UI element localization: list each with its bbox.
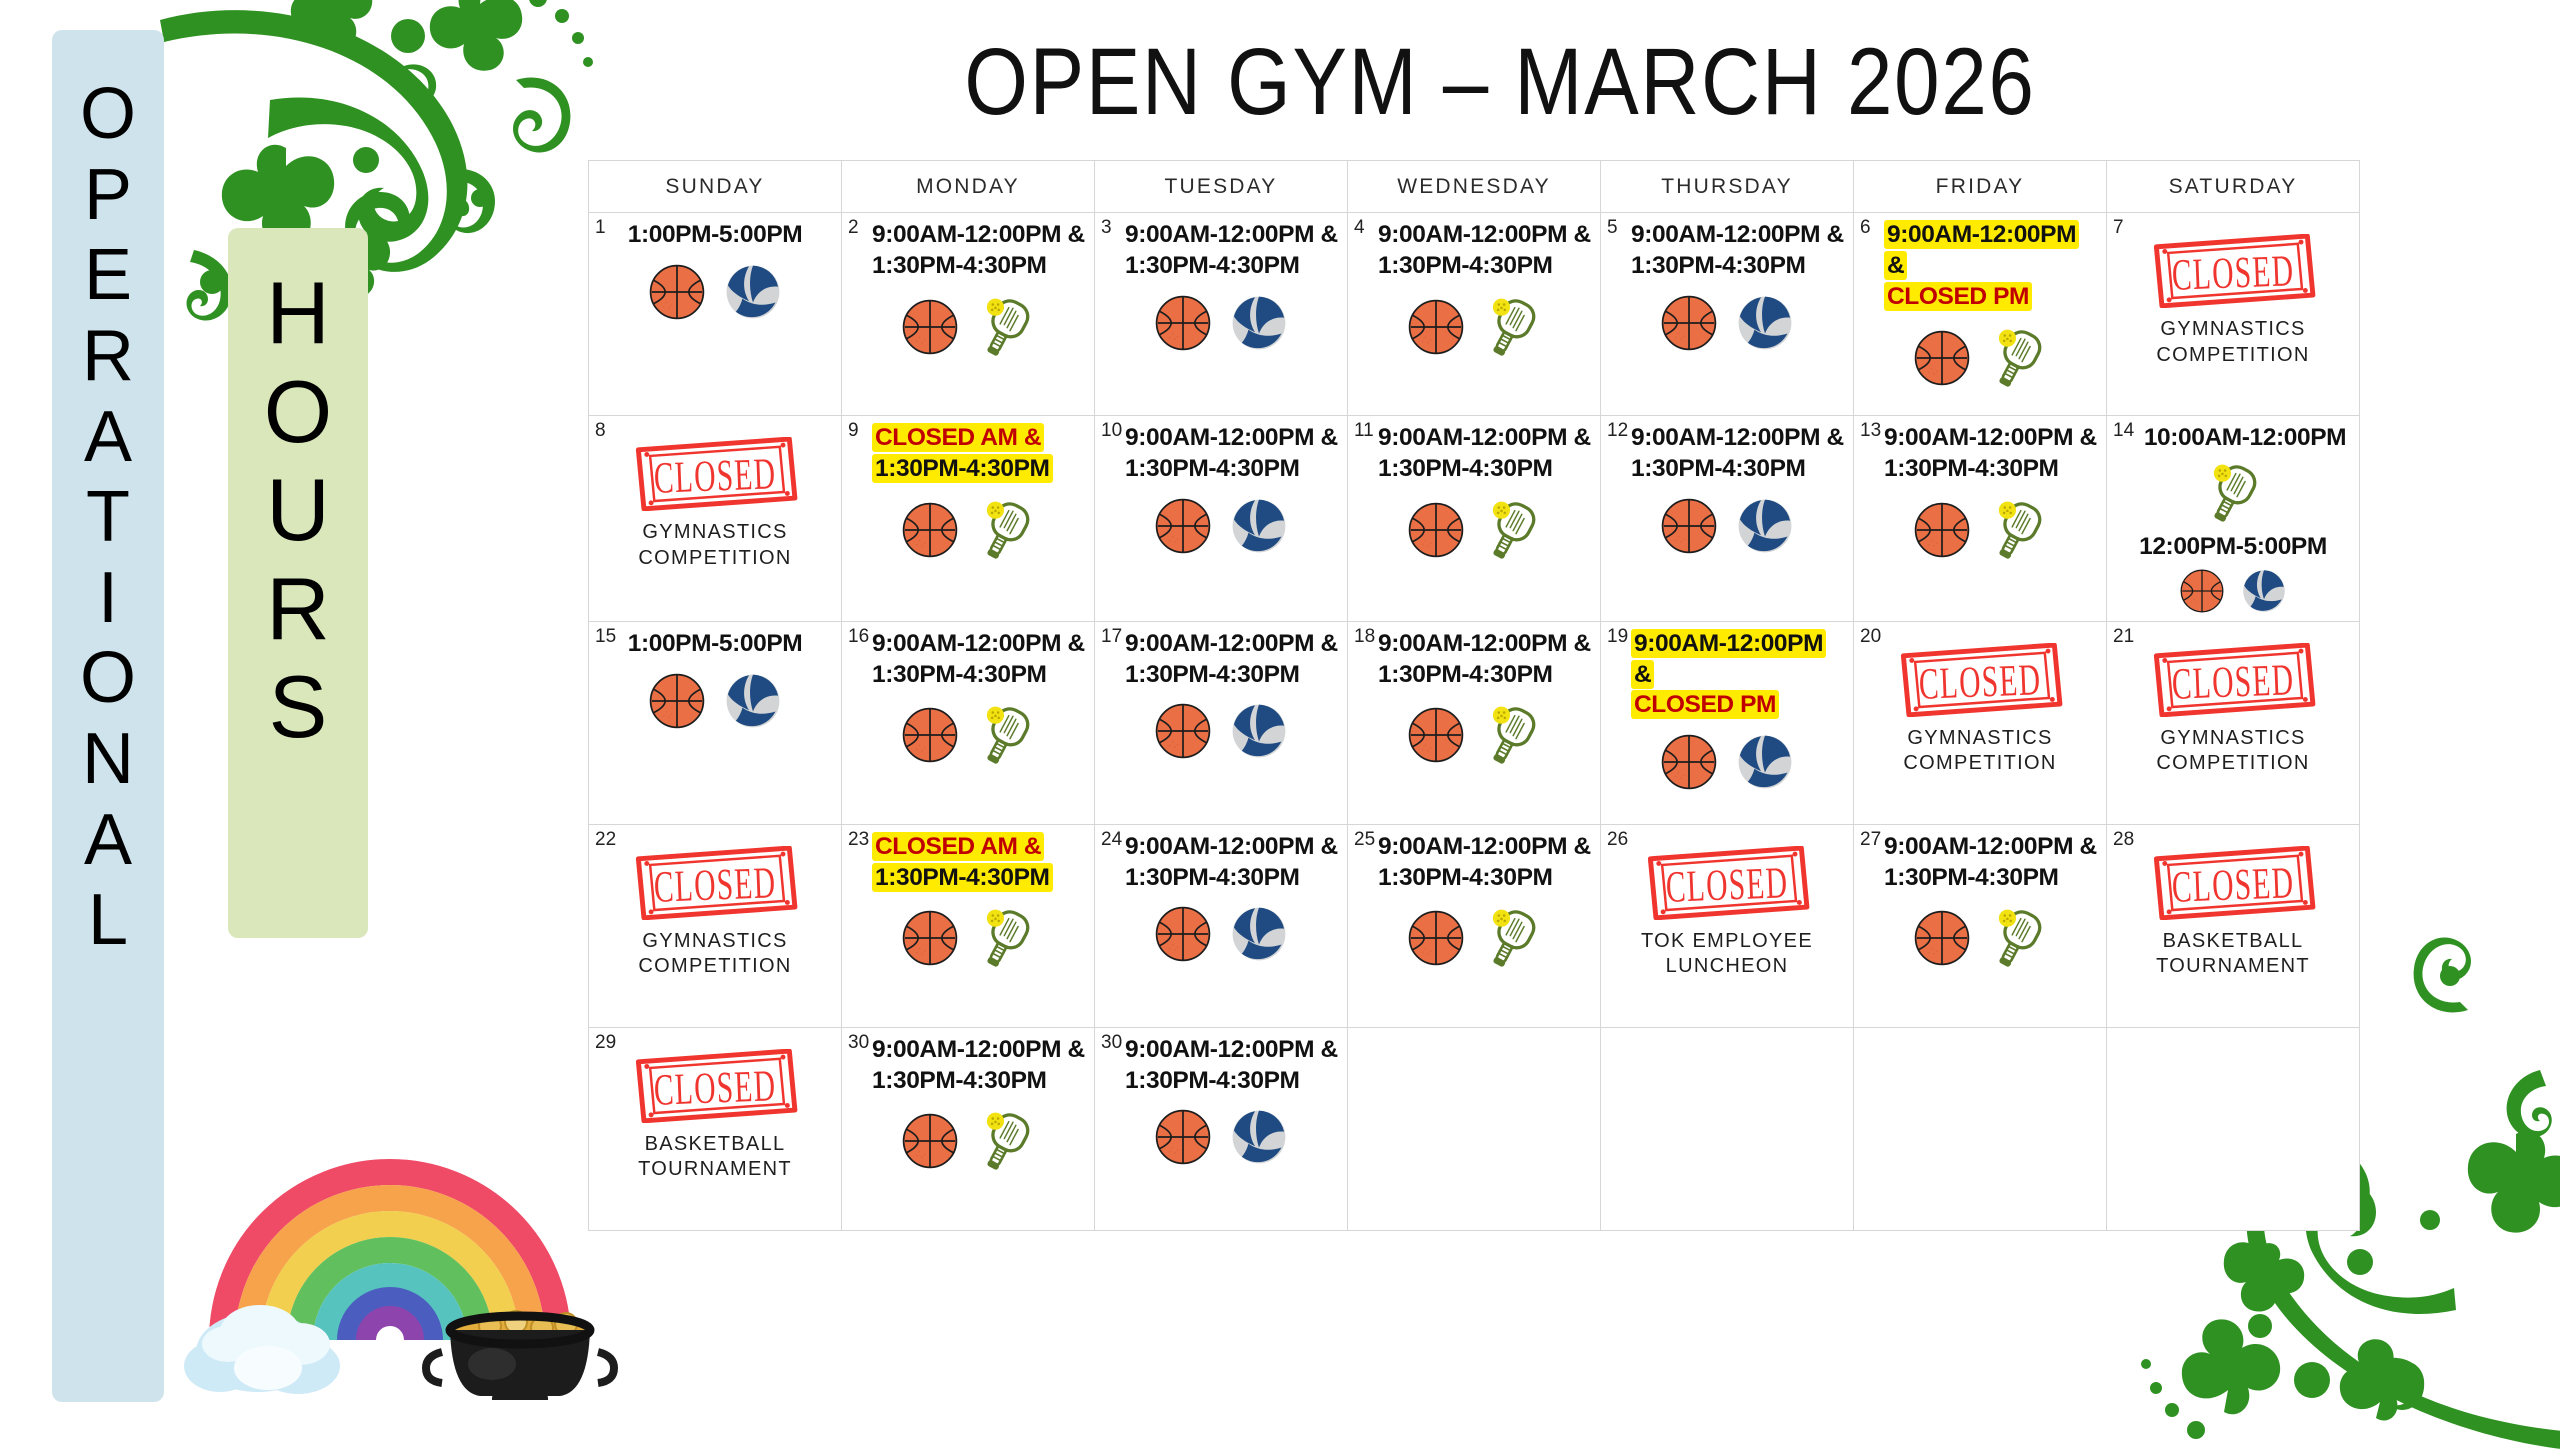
calendar-cell-day-12[interactable]: 129:00AM-12:00PM &1:30PM-4:30PM <box>1601 416 1854 622</box>
time-text: 1:30PM-4:30PM <box>1378 864 1553 891</box>
activity-icons <box>1605 290 1849 356</box>
time-text: 1:30PM-4:30PM <box>872 661 1047 688</box>
calendar-cell-day-16[interactable]: 169:00AM-12:00PM &1:30PM-4:30PM <box>842 621 1095 824</box>
day-number: 3 <box>1101 218 1112 237</box>
time-text: 9:00AM-12:00PM & <box>1631 221 1844 248</box>
time-range-block: 9:00AM-12:00PM &1:30PM-4:30PM <box>1631 423 1849 485</box>
time-text: 9:00AM-12:00PM & <box>872 630 1085 657</box>
day-number: 30 <box>1101 1033 1122 1052</box>
basketball-icon <box>1403 702 1469 768</box>
time-text: 9:00AM-12:00PM & <box>1378 424 1591 451</box>
highlighted-time-text: 1:30PM-4:30PM <box>872 454 1053 483</box>
day-number: 6 <box>1860 218 1871 237</box>
time-text: 1:30PM-4:30PM <box>1631 252 1806 279</box>
closed-stamp-icon: CLOSED <box>2148 643 2318 717</box>
basketball-icon <box>1403 497 1469 563</box>
time-text: 1:30PM-4:30PM <box>1125 661 1300 688</box>
activity-icons <box>2111 565 2355 617</box>
calendar-cell-day-7[interactable]: 7CLOSEDGYMNASTICSCOMPETITION <box>2107 213 2360 416</box>
basketball-icon <box>1909 497 1975 563</box>
time-range-block: 9:00AM-12:00PM &1:30PM-4:30PM <box>1378 220 1596 282</box>
cell-inner: 21CLOSEDGYMNASTICSCOMPETITION <box>2107 622 2359 824</box>
time-range-block: 9:00AM-12:00PM &1:30PM-4:30PM <box>872 629 1090 691</box>
time-range-line: 1:30PM-4:30PM <box>1125 863 1343 894</box>
operational-letter: N <box>82 719 134 800</box>
hours-letter: O <box>264 363 332 462</box>
activity-icons <box>846 1104 1090 1178</box>
calendar-cell-day-27[interactable]: 279:00AM-12:00PM &1:30PM-4:30PM <box>1854 824 2107 1027</box>
closed-reason-label: BASKETBALLTOURNAMENT <box>2156 929 2310 980</box>
day-header-wednesday: WEDNESDAY <box>1348 161 1601 213</box>
time-text: 1:30PM-4:30PM <box>1125 864 1300 891</box>
svg-text:CLOSED: CLOSED <box>653 858 777 912</box>
calendar-cell-day-30[interactable]: 309:00AM-12:00PM &1:30PM-4:30PM <box>1095 1027 1348 1230</box>
highlighted-time-text: 9:00AM-12:00PM & <box>1884 220 2079 280</box>
day-header-friday: FRIDAY <box>1854 161 2107 213</box>
highlighted-closed-text: CLOSED PM <box>1631 690 1779 719</box>
closed-reason-label: GYMNASTICSCOMPETITION <box>2156 726 2309 777</box>
cell-inner: 109:00AM-12:00PM &1:30PM-4:30PM <box>1095 416 1347 621</box>
cell-inner: 119:00AM-12:00PM &1:30PM-4:30PM <box>1348 416 1600 621</box>
closed-reason-line: COMPETITION <box>638 546 791 572</box>
calendar-cell-day-2[interactable]: 29:00AM-12:00PM &1:30PM-4:30PM <box>842 213 1095 416</box>
highlighted-closed-text: CLOSED PM <box>1884 282 2032 311</box>
closed-reason-label: TOK EMPLOYEELUNCHEON <box>1641 929 1813 980</box>
time-range-block: 9:00AM-12:00PM &1:30PM-4:30PM <box>1125 220 1343 282</box>
time-range-line: 9:00AM-12:00PM & <box>1378 629 1596 660</box>
pickleball-paddle-icon <box>973 1104 1039 1178</box>
time-range-line: 1:30PM-4:30PM <box>1125 660 1343 691</box>
cell-inner: 279:00AM-12:00PM &1:30PM-4:30PM <box>1854 825 2106 1027</box>
calendar-cell-day-19[interactable]: 199:00AM-12:00PM &CLOSED PM <box>1601 621 1854 824</box>
day-number: 23 <box>848 830 869 849</box>
day-number: 14 <box>2113 421 2134 440</box>
pickleball-paddle-icon <box>1985 493 2051 567</box>
calendar-cell-day-5[interactable]: 59:00AM-12:00PM &1:30PM-4:30PM <box>1601 213 1854 416</box>
time-text: 1:30PM-4:30PM <box>1125 455 1300 482</box>
time-range-text: 10:00AM-12:00PM <box>2135 423 2355 454</box>
basketball-icon <box>1909 325 1975 391</box>
basketball-icon <box>1150 901 1216 967</box>
calendar-cell-day-20[interactable]: 20CLOSEDGYMNASTICSCOMPETITION <box>1854 621 2107 824</box>
calendar-cell-day-26[interactable]: 26CLOSEDTOK EMPLOYEELUNCHEON <box>1601 824 1854 1027</box>
time-text: 9:00AM-12:00PM & <box>1125 833 1338 860</box>
time-text: 1:00PM-5:00PM <box>628 630 803 657</box>
activity-icons <box>1099 290 1343 356</box>
closed-stamp-group: CLOSEDGYMNASTICSCOMPETITION <box>1858 643 2102 777</box>
closed-stamp-icon: CLOSED <box>1895 643 2065 717</box>
calendar-cell-day-30[interactable]: 309:00AM-12:00PM &1:30PM-4:30PM <box>842 1027 1095 1230</box>
time-text: 1:30PM-4:30PM <box>872 1067 1047 1094</box>
closed-stamp-icon: CLOSED <box>630 1049 800 1123</box>
calendar-cell-day-15[interactable]: 151:00PM-5:00PM <box>589 621 842 824</box>
basketball-icon <box>897 1108 963 1174</box>
day-number: 17 <box>1101 627 1122 646</box>
activity-icons <box>1352 290 1596 364</box>
closed-reason-line: TOURNAMENT <box>638 1157 792 1183</box>
time-range-block: 1:00PM-5:00PM <box>593 629 837 660</box>
closed-reason-label: GYMNASTICSCOMPETITION <box>2156 317 2309 368</box>
basketball-icon <box>897 497 963 563</box>
highlighted-time-text: 9:00AM-12:00PM & <box>1631 629 1826 689</box>
pickleball-paddle-icon <box>973 290 1039 364</box>
time-range-line: 9:00AM-12:00PM & <box>1125 423 1343 454</box>
time-range-line: 1:30PM-4:30PM <box>1631 251 1849 282</box>
calendar-cell-day-4[interactable]: 49:00AM-12:00PM &1:30PM-4:30PM <box>1348 213 1601 416</box>
time-range-line: 9:00AM-12:00PM & <box>1884 832 2102 863</box>
calendar-header-row: SUNDAYMONDAYTUESDAYWEDNESDAYTHURSDAYFRID… <box>589 161 2360 213</box>
activity-icons <box>1352 698 1596 772</box>
closed-stamp-icon: CLOSED <box>2148 234 2318 308</box>
cell-inner <box>1601 1028 1853 1230</box>
closed-reason-line: GYMNASTICS <box>1903 726 2056 752</box>
basketball-icon <box>1150 493 1216 559</box>
closed-reason-label: GYMNASTICSCOMPETITION <box>638 520 791 571</box>
calendar-week-row: 8CLOSEDGYMNASTICSCOMPETITION9CLOSED AM &… <box>589 416 2360 622</box>
closed-stamp-group: CLOSEDTOK EMPLOYEELUNCHEON <box>1605 846 1849 980</box>
closed-reason-line: GYMNASTICS <box>2156 726 2309 752</box>
calendar-cell-day-14[interactable]: 1410:00AM-12:00PM12:00PM-5:00PM <box>2107 416 2360 622</box>
time-range-line: 1:30PM-4:30PM <box>1378 251 1596 282</box>
calendar-cell-day-10[interactable]: 109:00AM-12:00PM &1:30PM-4:30PM <box>1095 416 1348 622</box>
time-range-block: 9:00AM-12:00PM &1:30PM-4:30PM <box>1884 832 2102 894</box>
cell-inner: 59:00AM-12:00PM &1:30PM-4:30PM <box>1601 213 1853 415</box>
volleyball-icon <box>1732 729 1798 795</box>
cell-inner: 23CLOSED AM &1:30PM-4:30PM <box>842 825 1094 1027</box>
closed-reason-line: TOURNAMENT <box>2156 954 2310 980</box>
time-range-block: 9:00AM-12:00PM &1:30PM-4:30PM <box>1125 629 1343 691</box>
calendar-cell-day-21[interactable]: 21CLOSEDGYMNASTICSCOMPETITION <box>2107 621 2360 824</box>
day-header-sunday: SUNDAY <box>589 161 842 213</box>
day-number: 30 <box>848 1033 869 1052</box>
cell-inner <box>1348 1028 1600 1230</box>
calendar-cell-day-18[interactable]: 189:00AM-12:00PM &1:30PM-4:30PM <box>1348 621 1601 824</box>
day-number: 12 <box>1607 421 1628 440</box>
pickleball-paddle-icon <box>1479 901 1545 975</box>
cell-inner: 151:00PM-5:00PM <box>589 622 841 824</box>
cell-inner: 9CLOSED AM &1:30PM-4:30PM <box>842 416 1094 621</box>
time-range-block: 1:00PM-5:00PM <box>593 220 837 251</box>
closed-reason-label: GYMNASTICSCOMPETITION <box>1903 726 2056 777</box>
operational-letter: O <box>80 638 136 719</box>
calendar-cell-day-3[interactable]: 39:00AM-12:00PM &1:30PM-4:30PM <box>1095 213 1348 416</box>
time-range-block: 9:00AM-12:00PM &1:30PM-4:30PM <box>1378 832 1596 894</box>
day-number: 24 <box>1101 830 1122 849</box>
activity-icons <box>846 493 1090 567</box>
volleyball-icon <box>1226 493 1292 559</box>
time-range-block: 9:00AM-12:00PM &1:30PM-4:30PM <box>1631 220 1849 282</box>
cell-inner: 179:00AM-12:00PM &1:30PM-4:30PM <box>1095 622 1347 824</box>
time-range-line: CLOSED PM <box>1631 690 1849 721</box>
calendar-cell-day-13[interactable]: 139:00AM-12:00PM &1:30PM-4:30PM <box>1854 416 2107 622</box>
activity-icons <box>593 668 837 734</box>
activity-icons <box>1099 493 1343 559</box>
hours-letter: U <box>266 461 330 560</box>
activity-icons <box>1605 493 1849 559</box>
calendar-cell-day-25[interactable]: 259:00AM-12:00PM &1:30PM-4:30PM <box>1348 824 1601 1027</box>
activity-icons <box>1605 729 1849 795</box>
time-text: 1:30PM-4:30PM <box>1125 252 1300 279</box>
time-range-line: 1:30PM-4:30PM <box>872 660 1090 691</box>
highlighted-time-text: 1:30PM-4:30PM <box>872 863 1053 892</box>
activity-icons <box>1099 1104 1343 1170</box>
open-gym-calendar: SUNDAYMONDAYTUESDAYWEDNESDAYTHURSDAYFRID… <box>588 160 2360 1231</box>
operational-letter: R <box>82 316 134 397</box>
day-number: 28 <box>2113 830 2134 849</box>
pickleball-paddle-icon <box>973 698 1039 772</box>
time-text: 1:00PM-5:00PM <box>628 221 803 248</box>
time-range-line: 1:30PM-4:30PM <box>1125 454 1343 485</box>
calendar-cell-day-9[interactable]: 9CLOSED AM &1:30PM-4:30PM <box>842 416 1095 622</box>
operational-letter: L <box>88 880 128 961</box>
activity-icons <box>2111 456 2355 530</box>
basketball-icon <box>644 668 710 734</box>
day-number: 25 <box>1354 830 1375 849</box>
closed-stamp-group: CLOSEDGYMNASTICSCOMPETITION <box>593 437 837 571</box>
cell-inner: 11:00PM-5:00PM <box>589 213 841 415</box>
time-text: 1:30PM-4:30PM <box>1378 661 1553 688</box>
operational-letter: I <box>98 558 118 639</box>
time-text: 9:00AM-12:00PM & <box>872 221 1085 248</box>
pickleball-paddle-icon <box>973 901 1039 975</box>
time-range-line: 1:30PM-4:30PM <box>872 1066 1090 1097</box>
calendar-cell-day-8[interactable]: 8CLOSEDGYMNASTICSCOMPETITION <box>589 416 842 622</box>
day-number: 22 <box>595 830 616 849</box>
pickleball-paddle-icon <box>1985 901 2051 975</box>
time-range-line: 9:00AM-12:00PM & <box>1125 1035 1343 1066</box>
basketball-icon <box>1656 493 1722 559</box>
cell-inner: 7CLOSEDGYMNASTICSCOMPETITION <box>2107 213 2359 415</box>
time-range-line: 9:00AM-12:00PM & <box>1378 220 1596 251</box>
basketball-icon <box>1656 290 1722 356</box>
time-range-line: 1:30PM-4:30PM <box>1125 1066 1343 1097</box>
time-text: 1:30PM-4:30PM <box>872 252 1047 279</box>
cell-inner: 8CLOSEDGYMNASTICSCOMPETITION <box>589 416 841 621</box>
day-header-saturday: SATURDAY <box>2107 161 2360 213</box>
time-range-block: 9:00AM-12:00PM &1:30PM-4:30PM <box>1884 423 2102 485</box>
closed-reason-line: GYMNASTICS <box>2156 317 2309 343</box>
basketball-icon <box>1656 729 1722 795</box>
cell-inner: 29:00AM-12:00PM &1:30PM-4:30PM <box>842 213 1094 415</box>
volleyball-icon <box>1226 901 1292 967</box>
time-range-line: 1:30PM-4:30PM <box>1884 454 2102 485</box>
time-range-line: 1:30PM-4:30PM <box>1378 454 1596 485</box>
time-text: 1:30PM-4:30PM <box>1125 1067 1300 1094</box>
calendar-cell-day-6[interactable]: 69:00AM-12:00PM &CLOSED PM <box>1854 213 2107 416</box>
time-range-line: 1:30PM-4:30PM <box>1378 660 1596 691</box>
basketball-icon <box>2176 565 2228 617</box>
cell-inner: 22CLOSEDGYMNASTICSCOMPETITION <box>589 825 841 1027</box>
time-range-line: 9:00AM-12:00PM & <box>1378 832 1596 863</box>
activity-icons <box>846 290 1090 364</box>
closed-stamp-group: CLOSEDGYMNASTICSCOMPETITION <box>2111 643 2355 777</box>
operational-letter: A <box>84 397 132 478</box>
closed-reason-line: COMPETITION <box>638 954 791 980</box>
basketball-icon <box>1403 905 1469 971</box>
time-range-block: 9:00AM-12:00PM &1:30PM-4:30PM <box>872 220 1090 282</box>
time-text: 1:30PM-4:30PM <box>1884 455 2059 482</box>
volleyball-icon <box>1732 493 1798 559</box>
basketball-icon <box>1403 294 1469 360</box>
time-range-line: 1:30PM-4:30PM <box>872 251 1090 282</box>
time-range-block: CLOSED AM &1:30PM-4:30PM <box>872 832 1090 894</box>
svg-text:CLOSED: CLOSED <box>1665 858 1789 912</box>
basketball-icon <box>897 294 963 360</box>
calendar-week-row: 11:00PM-5:00PM29:00AM-12:00PM &1:30PM-4:… <box>589 213 2360 416</box>
time-text: 9:00AM-12:00PM & <box>1125 630 1338 657</box>
time-text: 9:00AM-12:00PM & <box>872 1036 1085 1063</box>
day-number: 1 <box>595 218 606 237</box>
time-range-line: 1:00PM-5:00PM <box>593 220 837 251</box>
cell-inner: 309:00AM-12:00PM &1:30PM-4:30PM <box>1095 1028 1347 1230</box>
day-header-tuesday: TUESDAY <box>1095 161 1348 213</box>
time-range-line: 9:00AM-12:00PM & <box>1884 220 2102 282</box>
pickleball-paddle-icon <box>1479 698 1545 772</box>
cell-inner: 39:00AM-12:00PM &1:30PM-4:30PM <box>1095 213 1347 415</box>
time-range-block: 9:00AM-12:00PM &CLOSED PM <box>1631 629 1849 722</box>
time-range-line: 9:00AM-12:00PM & <box>1884 423 2102 454</box>
closed-stamp-icon: CLOSED <box>630 846 800 920</box>
activity-icons <box>1352 493 1596 567</box>
closed-reason-label: GYMNASTICSCOMPETITION <box>638 929 791 980</box>
closed-reason-label: BASKETBALLTOURNAMENT <box>638 1132 792 1183</box>
closed-stamp-group: CLOSEDGYMNASTICSCOMPETITION <box>593 846 837 980</box>
calendar-cell-day-17[interactable]: 179:00AM-12:00PM &1:30PM-4:30PM <box>1095 621 1348 824</box>
time-range-line: 1:30PM-4:30PM <box>1378 863 1596 894</box>
time-text: 1:30PM-4:30PM <box>1631 455 1806 482</box>
operational-letter: O <box>80 74 136 155</box>
closed-reason-line: COMPETITION <box>2156 343 2309 369</box>
day-number: 20 <box>1860 627 1881 646</box>
time-range-line: 9:00AM-12:00PM & <box>1631 629 1849 691</box>
time-range-line: 9:00AM-12:00PM & <box>872 220 1090 251</box>
cell-inner <box>2107 1028 2359 1230</box>
basketball-icon <box>897 905 963 971</box>
closed-reason-line: TOK EMPLOYEE <box>1641 929 1813 955</box>
operational-letter: P <box>84 155 132 236</box>
time-range-line: 1:30PM-4:30PM <box>1884 863 2102 894</box>
time-range-line: 1:30PM-4:30PM <box>1125 251 1343 282</box>
time-range-line: 9:00AM-12:00PM & <box>1378 423 1596 454</box>
pickleball-paddle-icon <box>1985 321 2051 395</box>
day-number: 21 <box>2113 627 2134 646</box>
volleyball-icon <box>1226 1104 1292 1170</box>
cell-inner: 69:00AM-12:00PM &CLOSED PM <box>1854 213 2106 415</box>
time-text: 9:00AM-12:00PM & <box>1378 630 1591 657</box>
hours-letter: S <box>269 658 328 757</box>
day-number: 4 <box>1354 218 1365 237</box>
volleyball-icon <box>720 259 786 325</box>
cell-inner: 199:00AM-12:00PM &CLOSED PM <box>1601 622 1853 824</box>
svg-text:CLOSED: CLOSED <box>2171 655 2295 709</box>
activity-icons <box>1352 901 1596 975</box>
pickleball-paddle-icon <box>973 493 1039 567</box>
day-number: 26 <box>1607 830 1628 849</box>
activity-icons <box>1858 493 2102 567</box>
calendar-week-row: 29CLOSEDBASKETBALLTOURNAMENT309:00AM-12:… <box>589 1027 2360 1230</box>
calendar-cell-empty <box>1348 1027 1601 1230</box>
closed-stamp-icon: CLOSED <box>630 437 800 511</box>
time-range-block: 9:00AM-12:00PM &1:30PM-4:30PM <box>1378 629 1596 691</box>
time-range-line: 9:00AM-12:00PM & <box>1125 832 1343 863</box>
closed-reason-line: GYMNASTICS <box>638 929 791 955</box>
activity-icons <box>846 698 1090 772</box>
day-number: 19 <box>1607 627 1628 646</box>
operational-letter: A <box>84 800 132 881</box>
day-number: 2 <box>848 218 859 237</box>
rainbow-pot-of-gold-decoration <box>180 1000 650 1400</box>
time-text: 9:00AM-12:00PM & <box>1378 833 1591 860</box>
basketball-icon <box>1150 698 1216 764</box>
volleyball-icon <box>1226 698 1292 764</box>
time-range-line: 9:00AM-12:00PM & <box>1631 220 1849 251</box>
time-text: 9:00AM-12:00PM & <box>1378 221 1591 248</box>
calendar-cell-day-23[interactable]: 23CLOSED AM &1:30PM-4:30PM <box>842 824 1095 1027</box>
closed-reason-line: GYMNASTICS <box>638 520 791 546</box>
time-range-line: 9:00AM-12:00PM & <box>1631 423 1849 454</box>
volleyball-icon <box>1226 290 1292 356</box>
highlighted-closed-text: CLOSED AM & <box>872 832 1044 861</box>
basketball-icon <box>1909 905 1975 971</box>
time-text: 9:00AM-12:00PM & <box>1884 424 2097 451</box>
activity-icons <box>1858 321 2102 395</box>
time-range-block: 9:00AM-12:00PM &1:30PM-4:30PM <box>1125 1035 1343 1097</box>
calendar-cell-day-11[interactable]: 119:00AM-12:00PM &1:30PM-4:30PM <box>1348 416 1601 622</box>
activity-icons <box>846 901 1090 975</box>
time-text: 1:30PM-4:30PM <box>1378 455 1553 482</box>
day-number: 18 <box>1354 627 1375 646</box>
day-header-monday: MONDAY <box>842 161 1095 213</box>
cell-inner: 139:00AM-12:00PM &1:30PM-4:30PM <box>1854 416 2106 621</box>
time-text: 1:30PM-4:30PM <box>1884 864 2059 891</box>
calendar-cell-day-24[interactable]: 249:00AM-12:00PM &1:30PM-4:30PM <box>1095 824 1348 1027</box>
calendar-cell-day-1[interactable]: 11:00PM-5:00PM <box>589 213 842 416</box>
cell-inner: 129:00AM-12:00PM &1:30PM-4:30PM <box>1601 416 1853 621</box>
time-range-line: 9:00AM-12:00PM & <box>1125 220 1343 251</box>
closed-stamp-group: CLOSEDBASKETBALLTOURNAMENT <box>2111 846 2355 980</box>
calendar-cell-day-28[interactable]: 28CLOSEDBASKETBALLTOURNAMENT <box>2107 824 2360 1027</box>
time-text: 9:00AM-12:00PM & <box>1631 424 1844 451</box>
time-range-block: 9:00AM-12:00PM &CLOSED PM <box>1884 220 2102 313</box>
time-range-block: 9:00AM-12:00PM &1:30PM-4:30PM <box>1125 423 1343 485</box>
time-range-line: CLOSED AM & <box>872 423 1090 454</box>
time-range-line: CLOSED PM <box>1884 282 2102 313</box>
operational-letter: E <box>84 235 132 316</box>
time-range-line: 9:00AM-12:00PM & <box>872 629 1090 660</box>
day-number: 5 <box>1607 218 1618 237</box>
day-number: 11 <box>1354 421 1374 440</box>
calendar-cell-empty <box>1854 1027 2107 1230</box>
closed-reason-line: COMPETITION <box>2156 751 2309 777</box>
day-number: 13 <box>1860 421 1881 440</box>
svg-text:CLOSED: CLOSED <box>653 1061 777 1115</box>
time-range-line: 1:00PM-5:00PM <box>593 629 837 660</box>
volleyball-icon <box>1732 290 1798 356</box>
time-text: 9:00AM-12:00PM & <box>1125 424 1338 451</box>
day-number: 16 <box>848 627 869 646</box>
time-range-line: CLOSED AM & <box>872 832 1090 863</box>
closed-reason-line: BASKETBALL <box>2156 929 2310 955</box>
day-number: 7 <box>2113 218 2124 237</box>
basketball-icon <box>897 702 963 768</box>
closed-reason-line: BASKETBALL <box>638 1132 792 1158</box>
activity-icons <box>593 259 837 325</box>
operational-vertical-label: OPERATIONAL <box>52 30 164 1402</box>
calendar-cell-day-22[interactable]: 22CLOSEDGYMNASTICSCOMPETITION <box>589 824 842 1027</box>
cell-inner: 309:00AM-12:00PM &1:30PM-4:30PM <box>842 1028 1094 1230</box>
time-range-block: 9:00AM-12:00PM &1:30PM-4:30PM <box>1378 423 1596 485</box>
hours-letter: R <box>266 560 330 659</box>
